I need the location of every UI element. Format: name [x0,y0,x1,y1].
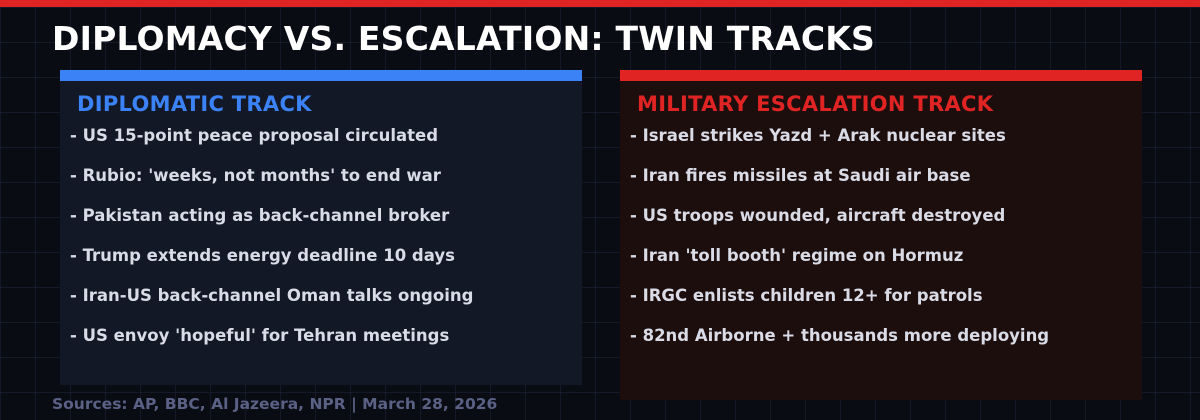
panel-diplomatic-accent-bar [60,70,582,81]
panel-diplomatic-bullet-list: - US 15-point peace proposal circulated-… [70,128,576,368]
infographic-canvas: DIPLOMACY VS. ESCALATION: TWIN TRACKS DI… [0,0,1200,420]
top-accent-rule [0,0,1200,7]
panel-military-track: MILITARY ESCALATION TRACK - Israel strik… [620,70,1142,400]
list-item: - Iran 'toll booth' regime on Hormuz [630,248,1136,265]
panel-military-body: MILITARY ESCALATION TRACK - Israel strik… [620,81,1142,400]
list-item: - US envoy 'hopeful' for Tehran meetings [70,328,576,345]
panel-diplomatic-track: DIPLOMATIC TRACK - US 15-point peace pro… [60,70,582,385]
list-item: - Iran fires missiles at Saudi air base [630,168,1136,185]
list-item: - 82nd Airborne + thousands more deployi… [630,328,1136,345]
panel-diplomatic-title: DIPLOMATIC TRACK [77,92,312,116]
page-title: DIPLOMACY VS. ESCALATION: TWIN TRACKS [52,19,875,58]
list-item: - Rubio: 'weeks, not months' to end war [70,168,576,185]
list-item: - Iran-US back-channel Oman talks ongoin… [70,288,576,305]
list-item: - Trump extends energy deadline 10 days [70,248,576,265]
panel-diplomatic-body: DIPLOMATIC TRACK - US 15-point peace pro… [60,81,582,385]
list-item: - IRGC enlists children 12+ for patrols [630,288,1136,305]
panel-military-accent-bar [620,70,1142,81]
sources-footer: Sources: AP, BBC, Al Jazeera, NPR | Marc… [52,395,497,413]
panel-military-bullet-list: - Israel strikes Yazd + Arak nuclear sit… [630,128,1136,368]
list-item: - US 15-point peace proposal circulated [70,128,576,145]
list-item: - Israel strikes Yazd + Arak nuclear sit… [630,128,1136,145]
list-item: - Pakistan acting as back-channel broker [70,208,576,225]
list-item: - US troops wounded, aircraft destroyed [630,208,1136,225]
panel-military-title: MILITARY ESCALATION TRACK [637,92,993,116]
